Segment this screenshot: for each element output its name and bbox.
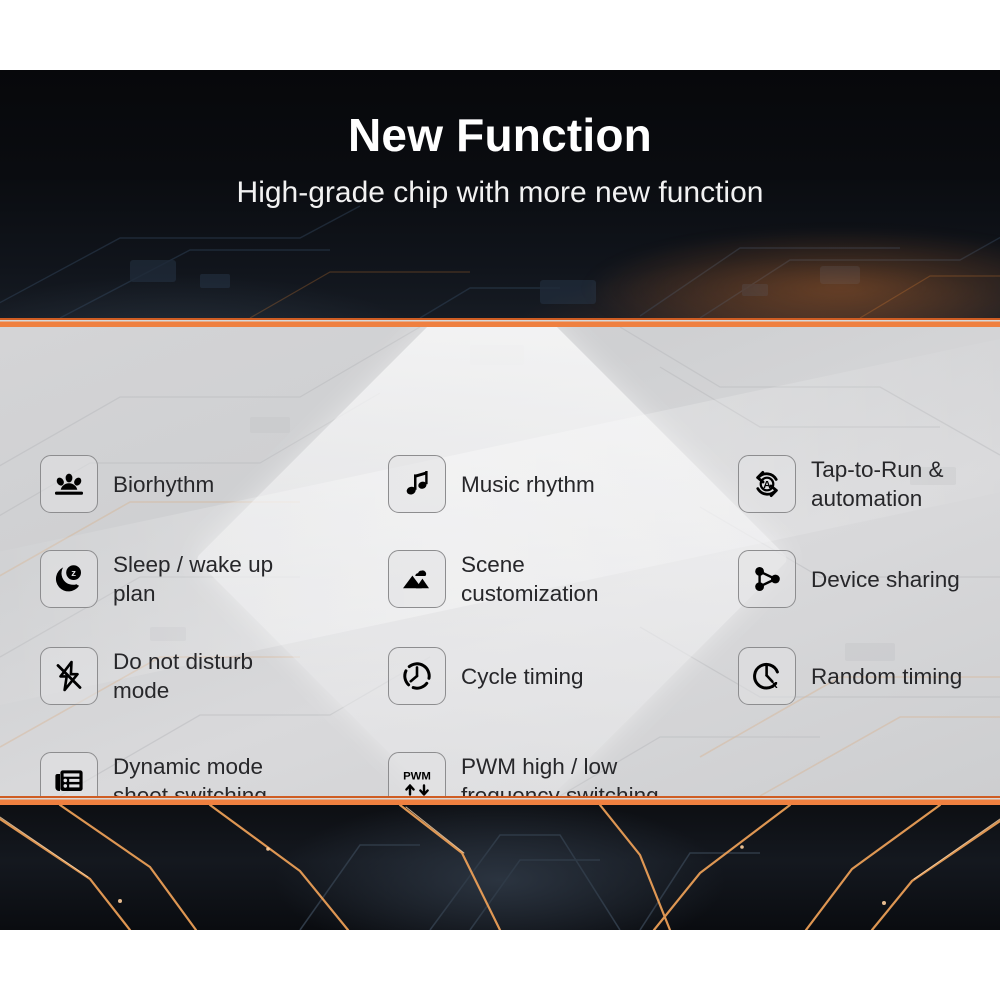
divider-top bbox=[0, 318, 1000, 327]
divider-bottom bbox=[0, 796, 1000, 805]
automation-icon-letter: A bbox=[763, 479, 771, 491]
clock-random-timing-icon: x bbox=[738, 647, 796, 705]
music-notes-icon bbox=[388, 455, 446, 513]
share-nodes-icon bbox=[738, 550, 796, 608]
feature-item-sleep-wake[interactable]: z Sleep / wake up plan bbox=[40, 550, 273, 608]
bolt-slash-do-not-disturb-icon bbox=[40, 647, 98, 705]
newspaper-list-dynamic-mode-icon bbox=[40, 752, 98, 796]
feature-label: Sleep / wake up plan bbox=[113, 550, 273, 608]
feature-label: Random timing bbox=[811, 662, 962, 691]
page-title: New Function bbox=[0, 108, 1000, 162]
promo-banner: New Function High-grade chip with more n… bbox=[0, 70, 1000, 930]
feature-item-do-not-disturb[interactable]: Do not disturb mode bbox=[40, 647, 253, 705]
feature-item-scene-customization[interactable]: Scene customization bbox=[388, 550, 599, 608]
feature-label: Tap-to-Run & automation bbox=[811, 455, 944, 513]
refresh-automation-icon: A bbox=[738, 455, 796, 513]
footer-circuit-texture bbox=[0, 805, 1000, 930]
feature-item-cycle-timing[interactable]: Cycle timing bbox=[388, 647, 584, 705]
clock-cycle-timing-icon bbox=[388, 647, 446, 705]
feature-label: Biorhythm bbox=[113, 470, 214, 499]
feature-label: Scene customization bbox=[461, 550, 599, 608]
pwm-arrows-icon: PWM bbox=[388, 752, 446, 796]
page-subtitle: High-grade chip with more new function bbox=[0, 176, 1000, 210]
sunrise-biorhythm-icon bbox=[40, 455, 98, 513]
feature-item-music-rhythm[interactable]: Music rhythm bbox=[388, 455, 595, 513]
moon-sleep-icon: z bbox=[40, 550, 98, 608]
feature-label: Dynamic mode sheet switching bbox=[113, 752, 267, 796]
feature-item-dynamic-mode[interactable]: Dynamic mode sheet switching bbox=[40, 752, 267, 796]
feature-item-device-sharing[interactable]: Device sharing bbox=[738, 550, 960, 608]
feature-item-tap-to-run[interactable]: A Tap-to-Run & automation bbox=[738, 455, 944, 513]
header-glow bbox=[580, 228, 1000, 318]
pwm-icon-text: PWM bbox=[403, 770, 431, 782]
feature-label: Device sharing bbox=[811, 565, 960, 594]
header-section: New Function High-grade chip with more n… bbox=[0, 70, 1000, 318]
feature-label: PWM high / low frequency switching bbox=[461, 752, 659, 796]
feature-item-biorhythm[interactable]: Biorhythm bbox=[40, 455, 214, 513]
footer-circuit-section bbox=[0, 805, 1000, 930]
svg-text:z: z bbox=[71, 568, 76, 579]
feature-label: Do not disturb mode bbox=[113, 647, 253, 705]
feature-item-pwm-switching[interactable]: PWM PWM high / low frequency switching bbox=[388, 752, 659, 796]
feature-label: Music rhythm bbox=[461, 470, 595, 499]
landscape-scene-icon bbox=[388, 550, 446, 608]
feature-item-random-timing[interactable]: x Random timing bbox=[738, 647, 962, 705]
random-icon-letter: x bbox=[772, 679, 779, 691]
feature-label: Cycle timing bbox=[461, 662, 584, 691]
features-panel: Biorhythm z Sleep / wake up plan Do not … bbox=[0, 327, 1000, 796]
